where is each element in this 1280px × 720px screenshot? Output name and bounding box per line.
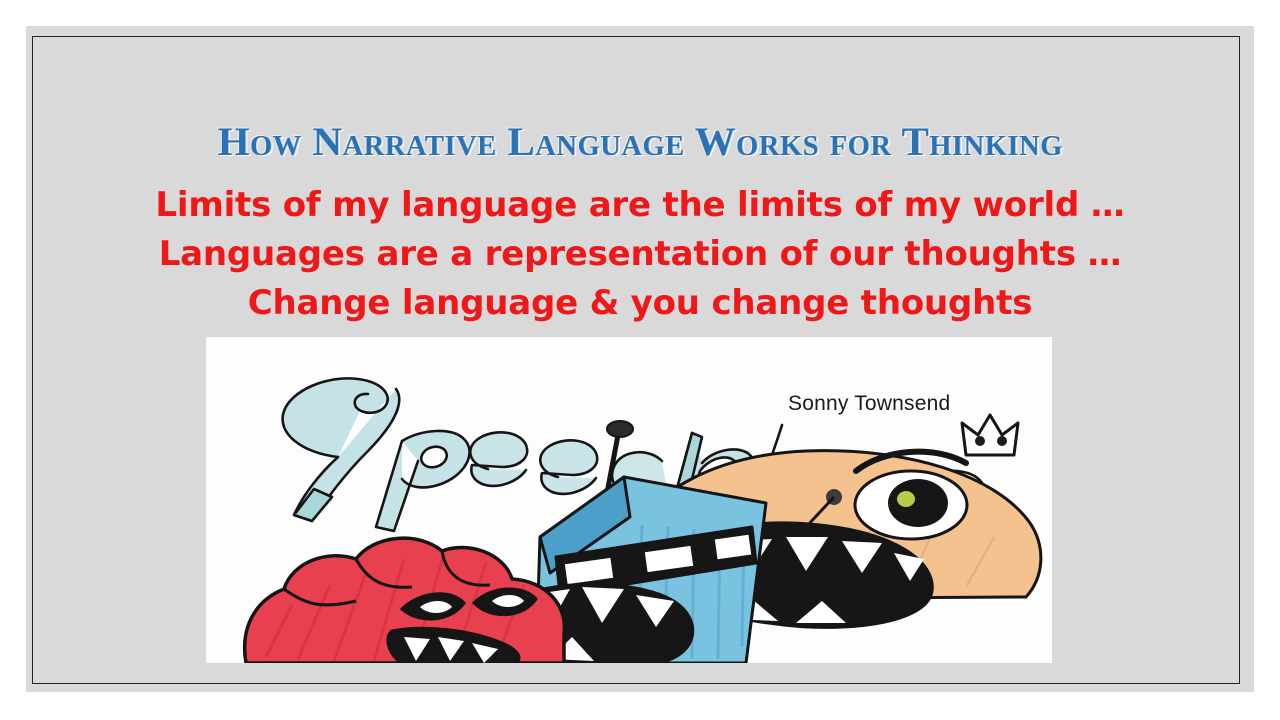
slide-root: How Narrative Language Works for Thinkin… bbox=[0, 0, 1280, 720]
subtitle-block: Limits of my language are the limits of … bbox=[0, 181, 1280, 328]
artist-credit: Sonny Townsend bbox=[788, 392, 950, 416]
speechless-drawing-svg bbox=[206, 337, 1052, 663]
subtitle-line-1: Limits of my language are the limits of … bbox=[0, 181, 1280, 230]
subtitle-line-3: Change language & you change thoughts bbox=[0, 279, 1280, 328]
artwork-image: Sonny Townsend bbox=[206, 337, 1052, 663]
subtitle-line-2: Languages are a representation of our th… bbox=[0, 230, 1280, 279]
